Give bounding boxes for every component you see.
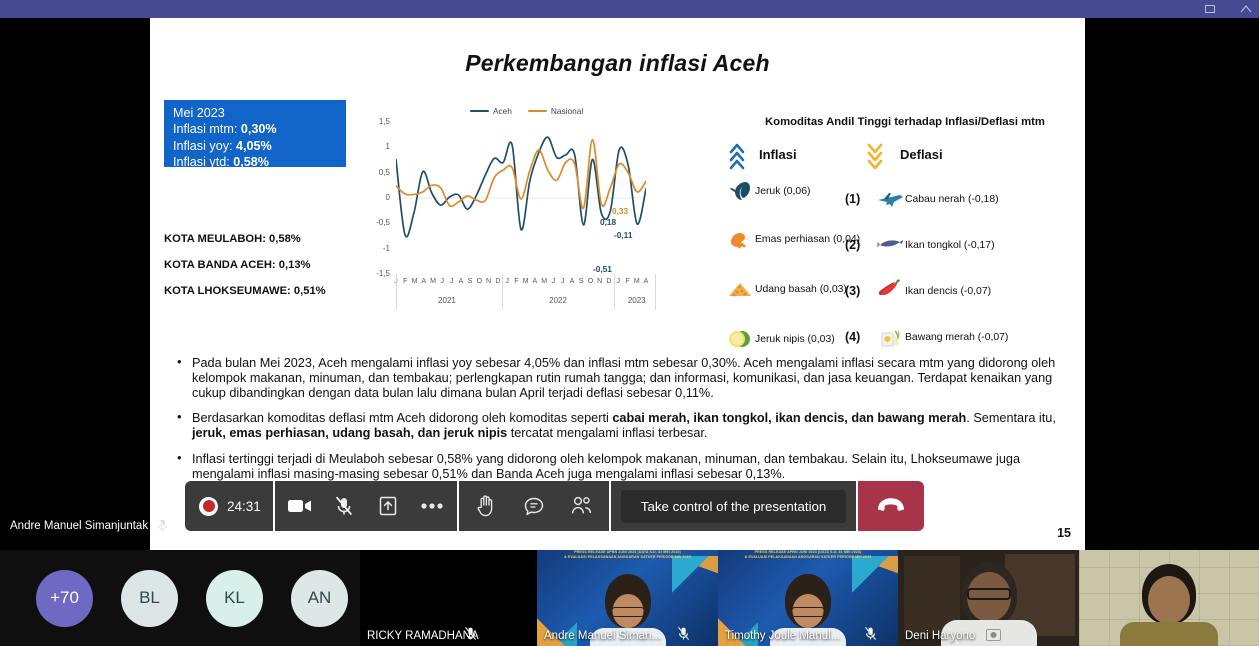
chart-year-separator [655, 274, 656, 310]
infobox-ytd: Inflasi ytd: 0,58% [173, 154, 346, 170]
commodity-panel-title: Komoditas Andil Tinggi terhadap Inflasi/… [733, 116, 1077, 128]
chart-year-separator [396, 274, 397, 310]
avatar-overflow[interactable]: +70 [36, 570, 93, 627]
chart-month-tick: A [644, 278, 649, 285]
chart-year-separator [502, 274, 503, 310]
commodity-label: Ikan tongkol (-0,17) [905, 239, 995, 252]
chart-plot-area [396, 122, 646, 274]
legend-item-nasional: Nasional [528, 106, 583, 116]
mic-off-icon [464, 626, 477, 641]
legend-swatch-nasional [528, 110, 547, 112]
commodity-label: Udang basah (0,03) [755, 283, 847, 296]
chart-month-tick: M [523, 278, 529, 285]
chart-month-tick: J [505, 278, 509, 285]
recording-time: 24:31 [227, 499, 261, 514]
commodity-rank: (3) [845, 284, 860, 298]
recording-indicator: 24:31 [185, 481, 273, 531]
chart-month-tick: N [597, 278, 602, 285]
mic-off-icon [677, 626, 690, 641]
hangup-icon[interactable] [858, 481, 924, 531]
infobox-period: Mei 2023 [173, 105, 346, 121]
chart-month-tick: J [561, 278, 565, 285]
chart-month-tick: O [477, 278, 482, 285]
city-inflation-lhokseumawe: KOTA LHOKSEUMAWE: 0,51% [164, 285, 326, 297]
inflasi-heading: Inflasi [759, 147, 797, 162]
commodity-row: Emas perhiasan (0,04) [725, 224, 885, 254]
city-inflation-meulaboh: KOTA MEULABOH: 0,58% [164, 233, 301, 245]
video-banner: PRESS RELEASE APBN JUNI 2023 (DATA S.D. … [718, 550, 898, 563]
more-options-icon[interactable] [411, 481, 453, 531]
commodity-row: Cabau nerah (-0,18) [875, 184, 1080, 214]
infobox-ytd-label: Inflasi ytd: [173, 155, 230, 169]
chart-month-tick: M [412, 278, 418, 285]
chart-month-tick: O [588, 278, 593, 285]
take-control-group: Take control of the presentation [611, 481, 857, 531]
avatar[interactable]: AN [291, 570, 348, 627]
chart-month-tick: J [616, 278, 620, 285]
bullet-1: Pada bulan Mei 2023, Aceh mengalami infl… [174, 356, 1064, 400]
chart-y-tick: -0,5 [360, 218, 390, 227]
record-icon[interactable] [199, 497, 218, 516]
page-title: Perkembangan inflasi Aceh [150, 50, 1085, 77]
take-control-button[interactable]: Take control of the presentation [621, 490, 847, 523]
mic-off-icon [864, 626, 877, 641]
participant-tile[interactable]: Deni Haryono [898, 550, 1079, 646]
chart-month-tick: M [430, 278, 436, 285]
chart-month-tick: J [450, 278, 454, 285]
chicken-icon [725, 224, 755, 254]
participant-filmstrip: +70BLKLAN RICKY RAMADHANA [0, 550, 1259, 646]
chart-month-tick: F [403, 278, 407, 285]
legend-swatch-aceh [470, 110, 489, 112]
infobox-mtm-label: Inflasi mtm: [173, 122, 237, 136]
close-icon[interactable] [1239, 2, 1253, 16]
avatar[interactable]: KL [206, 570, 263, 627]
infobox-mtm-value: 0,30% [241, 122, 277, 136]
chart-month-tick: S [468, 278, 473, 285]
commodity-label: Jeruk (0,06) [755, 185, 810, 198]
commodity-row: Bawang merah (-0,07) [875, 322, 1080, 352]
shared-content-stage: Perkembangan inflasi Aceh Mei 2023 Infla… [0, 18, 1259, 550]
chart-year-label: 2022 [549, 296, 567, 305]
chart-legend: Aceh Nasional [470, 106, 583, 116]
chart-month-tick: A [458, 278, 463, 285]
chart-month-tick: D [495, 278, 500, 285]
chat-icon[interactable] [513, 481, 555, 531]
participant-name: Andre Manuel Siman... [544, 630, 661, 642]
inflation-line-chart: Aceh Nasional 1,510,50-0,5-1-1,5 JFMAMJJ… [360, 106, 660, 331]
avatar[interactable]: BL [121, 570, 178, 627]
commodity-label: Ikan dencis (-0,07) [905, 285, 991, 298]
chart-month-tick: A [421, 278, 426, 285]
chevron-up-icon [729, 142, 745, 170]
airplane-icon [875, 184, 905, 214]
chart-month-tick: J [552, 278, 556, 285]
chart-y-tick: 0 [360, 193, 390, 202]
commodity-rank: (4) [845, 330, 860, 344]
infobox-mtm: Inflasi mtm: 0,30% [173, 121, 346, 137]
legend-item-aceh: Aceh [470, 106, 512, 116]
inflation-summary-box: Mei 2023 Inflasi mtm: 0,30% Inflasi yoy:… [164, 100, 346, 167]
meeting-control-bar: 24:31 [185, 481, 985, 531]
shrimp-pile-icon [725, 274, 755, 304]
chart-y-tick: -1,5 [360, 269, 390, 278]
legend-label-nasional: Nasional [551, 106, 583, 116]
chart-y-tick: 1 [360, 142, 390, 151]
commodity-rank: (2) [845, 238, 860, 252]
chart-month-tick: F [625, 278, 629, 285]
media-controls-group [275, 481, 457, 531]
commodity-label: Jeruk nipis (0,03) [755, 333, 835, 346]
avatar-group: +70BLKLAN [36, 550, 348, 646]
chart-y-tick: -1 [360, 244, 390, 253]
chart-year-label: 2021 [438, 296, 456, 305]
commodity-label: Cabau nerah (-0,18) [905, 193, 999, 206]
chart-month-tick: A [570, 278, 575, 285]
chart-value-label: -0,51 [593, 264, 612, 274]
participant-name: Deni Haryono [905, 630, 975, 642]
slide-bullets: Pada bulan Mei 2023, Aceh mengalami infl… [174, 356, 1064, 493]
participant-tile[interactable]: RICKY RAMADHANA [360, 550, 537, 646]
bullet-3: Inflasi tertinggi terjadi di Meulaboh se… [174, 452, 1064, 482]
commodity-row: Jeruk nipis (0,03) [725, 324, 885, 354]
mic-off-icon [156, 518, 169, 533]
chart-year-label: 2023 [628, 296, 646, 305]
chart-y-tick: 1,5 [360, 117, 390, 126]
infobox-yoy-label: Inflasi yoy: [173, 139, 233, 153]
slide-page-number: 15 [1057, 526, 1071, 540]
deflasi-heading: Deflasi [900, 147, 943, 162]
chart-value-label: -0,11 [614, 230, 632, 240]
commodity-row: Jeruk (0,06) [725, 176, 885, 206]
chart-year-separator [614, 274, 615, 310]
commodity-row: Ikan dencis (-0,07) [875, 276, 1080, 306]
chart-month-tick: J [441, 278, 445, 285]
fish-icon [725, 176, 755, 206]
chart-month-tick: D [606, 278, 611, 285]
participant-tile[interactable]: PRESS RELEASE APBN JUNI 2023 (DATA S.D. … [537, 550, 718, 646]
chart-month-tick: M [541, 278, 547, 285]
chart-value-label: 0,33 [612, 206, 628, 216]
chart-month-tick: S [579, 278, 584, 285]
chart-x-axis: JFMAMJJASONDJFMAMJJASONDJFMA 20212022202… [396, 274, 646, 322]
chart-y-tick: 0,5 [360, 168, 390, 177]
participant-tile[interactable] [1079, 550, 1259, 646]
commodity-panel: Komoditas Andil Tinggi terhadap Inflasi/… [725, 116, 1075, 346]
commodity-row: Udang basah (0,03) [725, 274, 885, 304]
share-screen-icon[interactable] [367, 481, 409, 531]
legend-label-aceh: Aceh [493, 106, 512, 116]
engagement-controls-group [459, 481, 609, 531]
rice-bag-icon [875, 322, 905, 352]
infobox-yoy: Inflasi yoy: 4,05% [173, 138, 346, 154]
chart-value-label: 0,18 [600, 217, 616, 227]
camera-badge-icon [986, 628, 999, 643]
presentation-slide: Perkembangan inflasi Aceh Mei 2023 Infla… [150, 18, 1085, 550]
tuna-icon [875, 230, 905, 260]
bullet-2: Berdasarkan komoditas deflasi mtm Aceh d… [174, 411, 1064, 441]
city-inflation-banda-aceh: KOTA BANDA ACEH: 0,13% [164, 259, 310, 271]
participant-name: Timothy Joule Manul... [725, 630, 840, 642]
active-presenter-label: Andre Manuel Simanjuntak [10, 518, 169, 533]
commodity-rank: (1) [845, 192, 860, 206]
restore-icon[interactable] [1203, 2, 1217, 16]
chart-month-tick: M [634, 278, 640, 285]
participant-name: RICKY RAMADHANA [367, 630, 479, 642]
infobox-yoy-value: 4,05% [236, 139, 272, 153]
participants-icon[interactable] [561, 481, 603, 531]
chevron-down-icon [867, 142, 883, 170]
lime-icon [725, 324, 755, 354]
chart-month-tick: F [514, 278, 518, 285]
mic-off-icon[interactable] [323, 481, 365, 531]
window-titlebar [0, 0, 1259, 18]
commodity-label: Bawang merah (-0,07) [905, 331, 1008, 344]
raise-hand-icon[interactable] [465, 481, 507, 531]
chart-month-tick: N [486, 278, 491, 285]
commodity-row: Ikan tongkol (-0,17) [875, 230, 1080, 260]
video-banner: PRESS RELEASE APBN JUNI 2023 (DATA S.D. … [537, 550, 718, 563]
participant-tile[interactable]: PRESS RELEASE APBN JUNI 2023 (DATA S.D. … [718, 550, 898, 646]
presenter-name-text: Andre Manuel Simanjuntak [10, 520, 148, 532]
teams-meeting-window: Perkembangan inflasi Aceh Mei 2023 Infla… [0, 0, 1259, 646]
infobox-ytd-value: 0,58% [233, 155, 269, 169]
camera-icon[interactable] [279, 481, 321, 531]
chili-icon [875, 276, 905, 306]
chart-month-tick: A [533, 278, 538, 285]
